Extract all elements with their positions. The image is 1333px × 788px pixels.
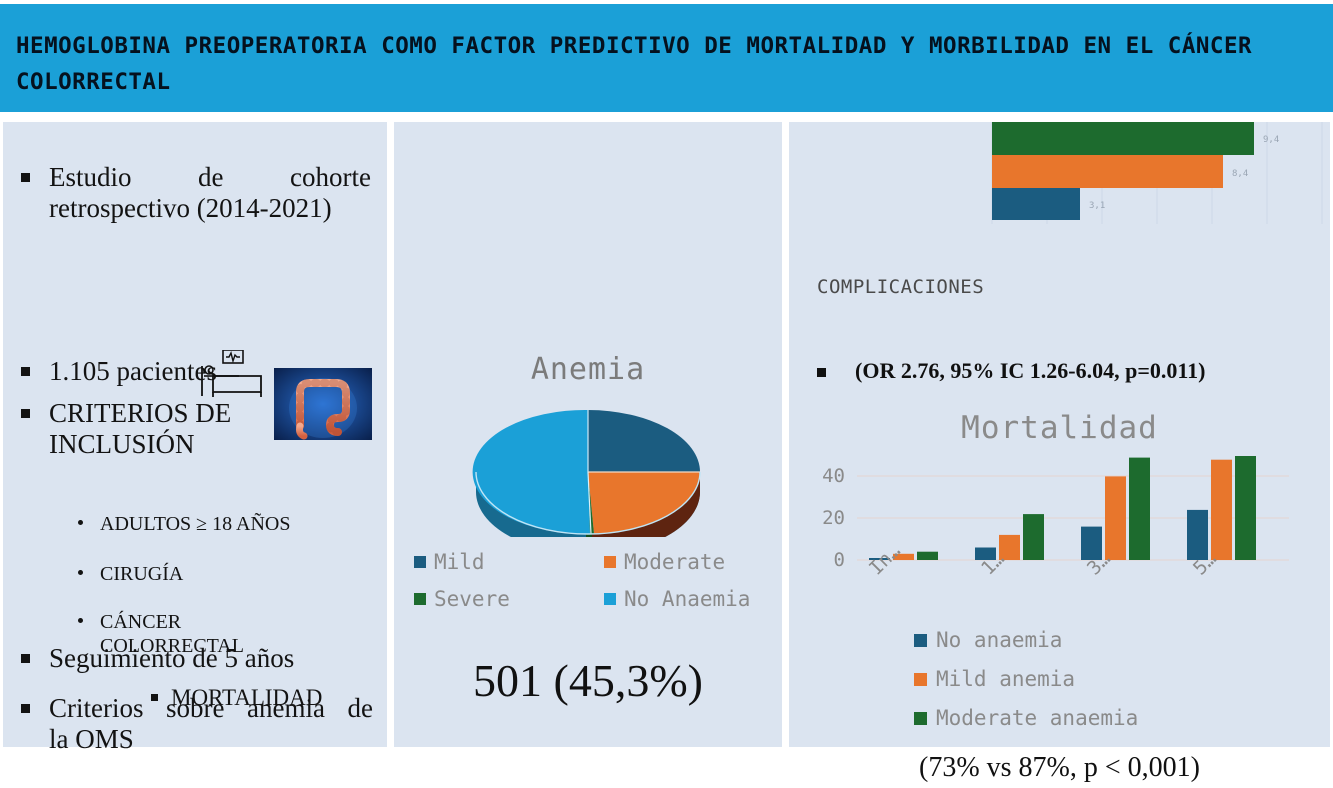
legend-label: No Anaemia	[624, 587, 750, 611]
anemia-pie-chart	[468, 397, 708, 537]
legend-label: Mild	[434, 550, 485, 574]
list-item-label: Seguimiento de 5 años	[49, 643, 373, 674]
bullet-square-icon	[21, 173, 30, 182]
legend-item-no-anaemia: No anaemia	[914, 628, 1138, 652]
mortalidad-chart-legend: No anaemia Mild anemia Moderate anaemia	[914, 628, 1138, 745]
legend-item-moderate: Moderate	[604, 550, 725, 574]
mortalidad-chart-title: Mortalidad	[789, 410, 1330, 446]
or-statement-label: (OR 2.76, 95% IC 1.26-6.04, p=0.011)	[855, 358, 1327, 384]
legend-label: Moderate	[624, 550, 725, 574]
complicaciones-axis-label: COMPLICACIONES	[817, 276, 984, 298]
bullet-square-icon	[21, 409, 30, 418]
legend-swatch-icon	[914, 634, 927, 647]
bullet-square-icon	[817, 368, 826, 377]
colon-anatomy-image	[274, 368, 372, 440]
legend-swatch-icon	[414, 556, 426, 568]
page-title: HEMOGLOBINA PREOPERATORIA COMO FACTOR PR…	[16, 28, 1316, 100]
pie-chart-title: Anemia	[394, 352, 782, 387]
pie-chart-legend: Mild Moderate Severe No Anaemia	[414, 550, 774, 624]
left-content-panel: Estudio de cohorte retrospectivo (2014-2…	[3, 122, 387, 747]
svg-text:40: 40	[822, 465, 845, 487]
svg-text:8,4: 8,4	[1232, 169, 1248, 179]
list-item-label: MORTALIDAD	[171, 685, 381, 711]
legend-item-mild-anemia: Mild anemia	[914, 667, 1138, 691]
middle-chart-panel: Anemia Mild Moderate	[394, 122, 782, 747]
bullet-square-icon	[21, 367, 30, 376]
bullet-dot-icon	[78, 520, 83, 525]
complicaciones-bar-chart: 9,4 8,4 3,1	[789, 122, 1330, 224]
list-item-label: ADULTOS ≥ 18 AÑOS	[100, 512, 368, 536]
bullet-square-icon	[21, 704, 30, 713]
legend-swatch-icon	[914, 712, 927, 725]
svg-text:0: 0	[834, 549, 845, 571]
legend-label: No anaemia	[936, 628, 1062, 652]
legend-item-severe: Severe	[414, 587, 604, 611]
list-item-label: Estudio de cohorte	[49, 162, 371, 193]
anemia-count-stat: 501 (45,3%)	[394, 654, 782, 707]
legend-item-mild: Mild	[414, 550, 604, 574]
svg-text:20: 20	[822, 507, 845, 529]
mortalidad-bar-chart: 40 20 0 In… 1… 3… 5…	[799, 456, 1299, 606]
svg-text:3,1: 3,1	[1089, 201, 1105, 211]
legend-label: Moderate anaemia	[936, 706, 1138, 730]
legend-swatch-icon	[604, 593, 616, 605]
hospital-bed-icon	[199, 350, 271, 398]
list-item-label: retrospectivo (2014-2021)	[49, 193, 371, 224]
bullet-square-icon	[21, 654, 30, 663]
legend-swatch-icon	[914, 673, 927, 686]
bullet-square-icon	[151, 694, 158, 701]
svg-text:9,4: 9,4	[1263, 135, 1279, 145]
legend-label: Mild anemia	[936, 667, 1075, 691]
legend-item-no-anaemia: No Anaemia	[604, 587, 750, 611]
or-statement: (OR 2.76, 95% IC 1.26-6.04, p=0.011)	[817, 358, 1327, 384]
list-item: ADULTOS ≥ 18 AÑOS	[78, 512, 368, 536]
slide-header: HEMOGLOBINA PREOPERATORIA COMO FACTOR PR…	[0, 4, 1333, 112]
list-item-label: la OMS	[49, 724, 373, 755]
list-item: MORTALIDAD	[151, 685, 381, 711]
legend-swatch-icon	[414, 593, 426, 605]
legend-item-moderate-anaemia: Moderate anaemia	[914, 706, 1138, 730]
list-item: Estudio de cohorte retrospectivo (2014-2…	[21, 162, 371, 224]
survival-bottom-stat: (73% vs 87%, p < 0,001)	[789, 752, 1330, 784]
legend-swatch-icon	[604, 556, 616, 568]
legend-label: Severe	[434, 587, 510, 611]
svg-text:In…: In…	[865, 540, 905, 580]
right-chart-panel: 9,4 8,4 3,1 COMPLICACIONES (OR 2.76, 95%…	[789, 122, 1330, 747]
